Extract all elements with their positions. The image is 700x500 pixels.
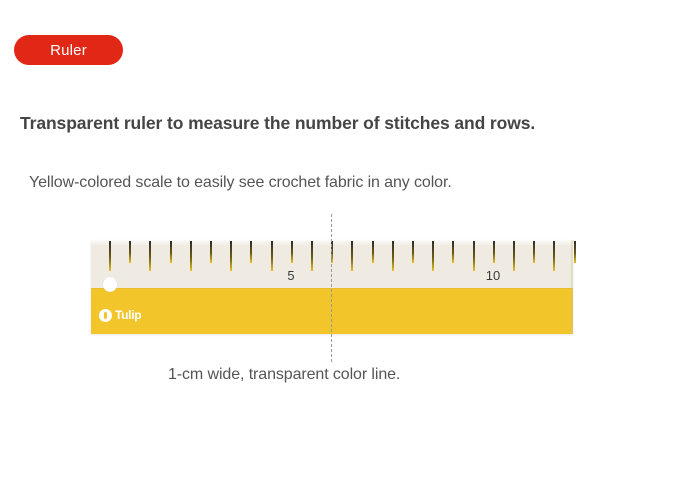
ruler-scale-number: 10 (486, 268, 500, 283)
ruler-tick (513, 241, 515, 271)
figure-caption: 1-cm wide, transparent color line. (168, 366, 400, 384)
ruler-tick (271, 241, 273, 271)
ruler-tick (109, 241, 111, 271)
ruler-tick (493, 241, 495, 263)
ruler-tick (190, 241, 192, 271)
ruler-badge: Ruler (14, 35, 123, 65)
ruler-tick (452, 241, 454, 263)
ruler-badge-label: Ruler (50, 42, 87, 59)
ruler-tick (553, 241, 555, 271)
ruler-tick (210, 241, 212, 263)
ruler-tick (574, 241, 576, 263)
ruler-tick (170, 241, 172, 263)
cm-guide-line (331, 214, 332, 362)
ruler-tick (372, 241, 374, 263)
ruler-tick (432, 241, 434, 271)
ruler-band-edge (91, 288, 573, 289)
ruler-right-edge (571, 240, 573, 334)
tulip-logo: Tulip (99, 308, 141, 322)
ruler-body (91, 240, 573, 334)
ruler-scale-number: 5 (287, 268, 294, 283)
ruler-tick (291, 241, 293, 263)
ruler-tick (149, 241, 151, 271)
tulip-logo-text: Tulip (115, 308, 141, 322)
ruler-illustration: 510 Tulip (0, 0, 700, 500)
page-subheadline: Yellow-colored scale to easily see croch… (29, 174, 452, 192)
ruler-punch-hole-icon (103, 277, 117, 292)
ruler-tick (311, 241, 313, 271)
ruler-tick (129, 241, 131, 263)
ruler-tick (392, 241, 394, 271)
ruler-tick (533, 241, 535, 263)
ruler-top-sheen (91, 240, 573, 246)
ruler-tick (250, 241, 252, 263)
page-headline: Transparent ruler to measure the number … (20, 113, 535, 134)
ruler-yellow-band (91, 288, 573, 334)
ruler-tick (412, 241, 414, 263)
ruler-graphic (91, 240, 573, 334)
tulip-logo-mark-icon (99, 309, 112, 322)
ruler-tick (230, 241, 232, 271)
ruler-tick (331, 241, 333, 263)
ruler-tick (351, 241, 353, 271)
ruler-tick (473, 241, 475, 271)
